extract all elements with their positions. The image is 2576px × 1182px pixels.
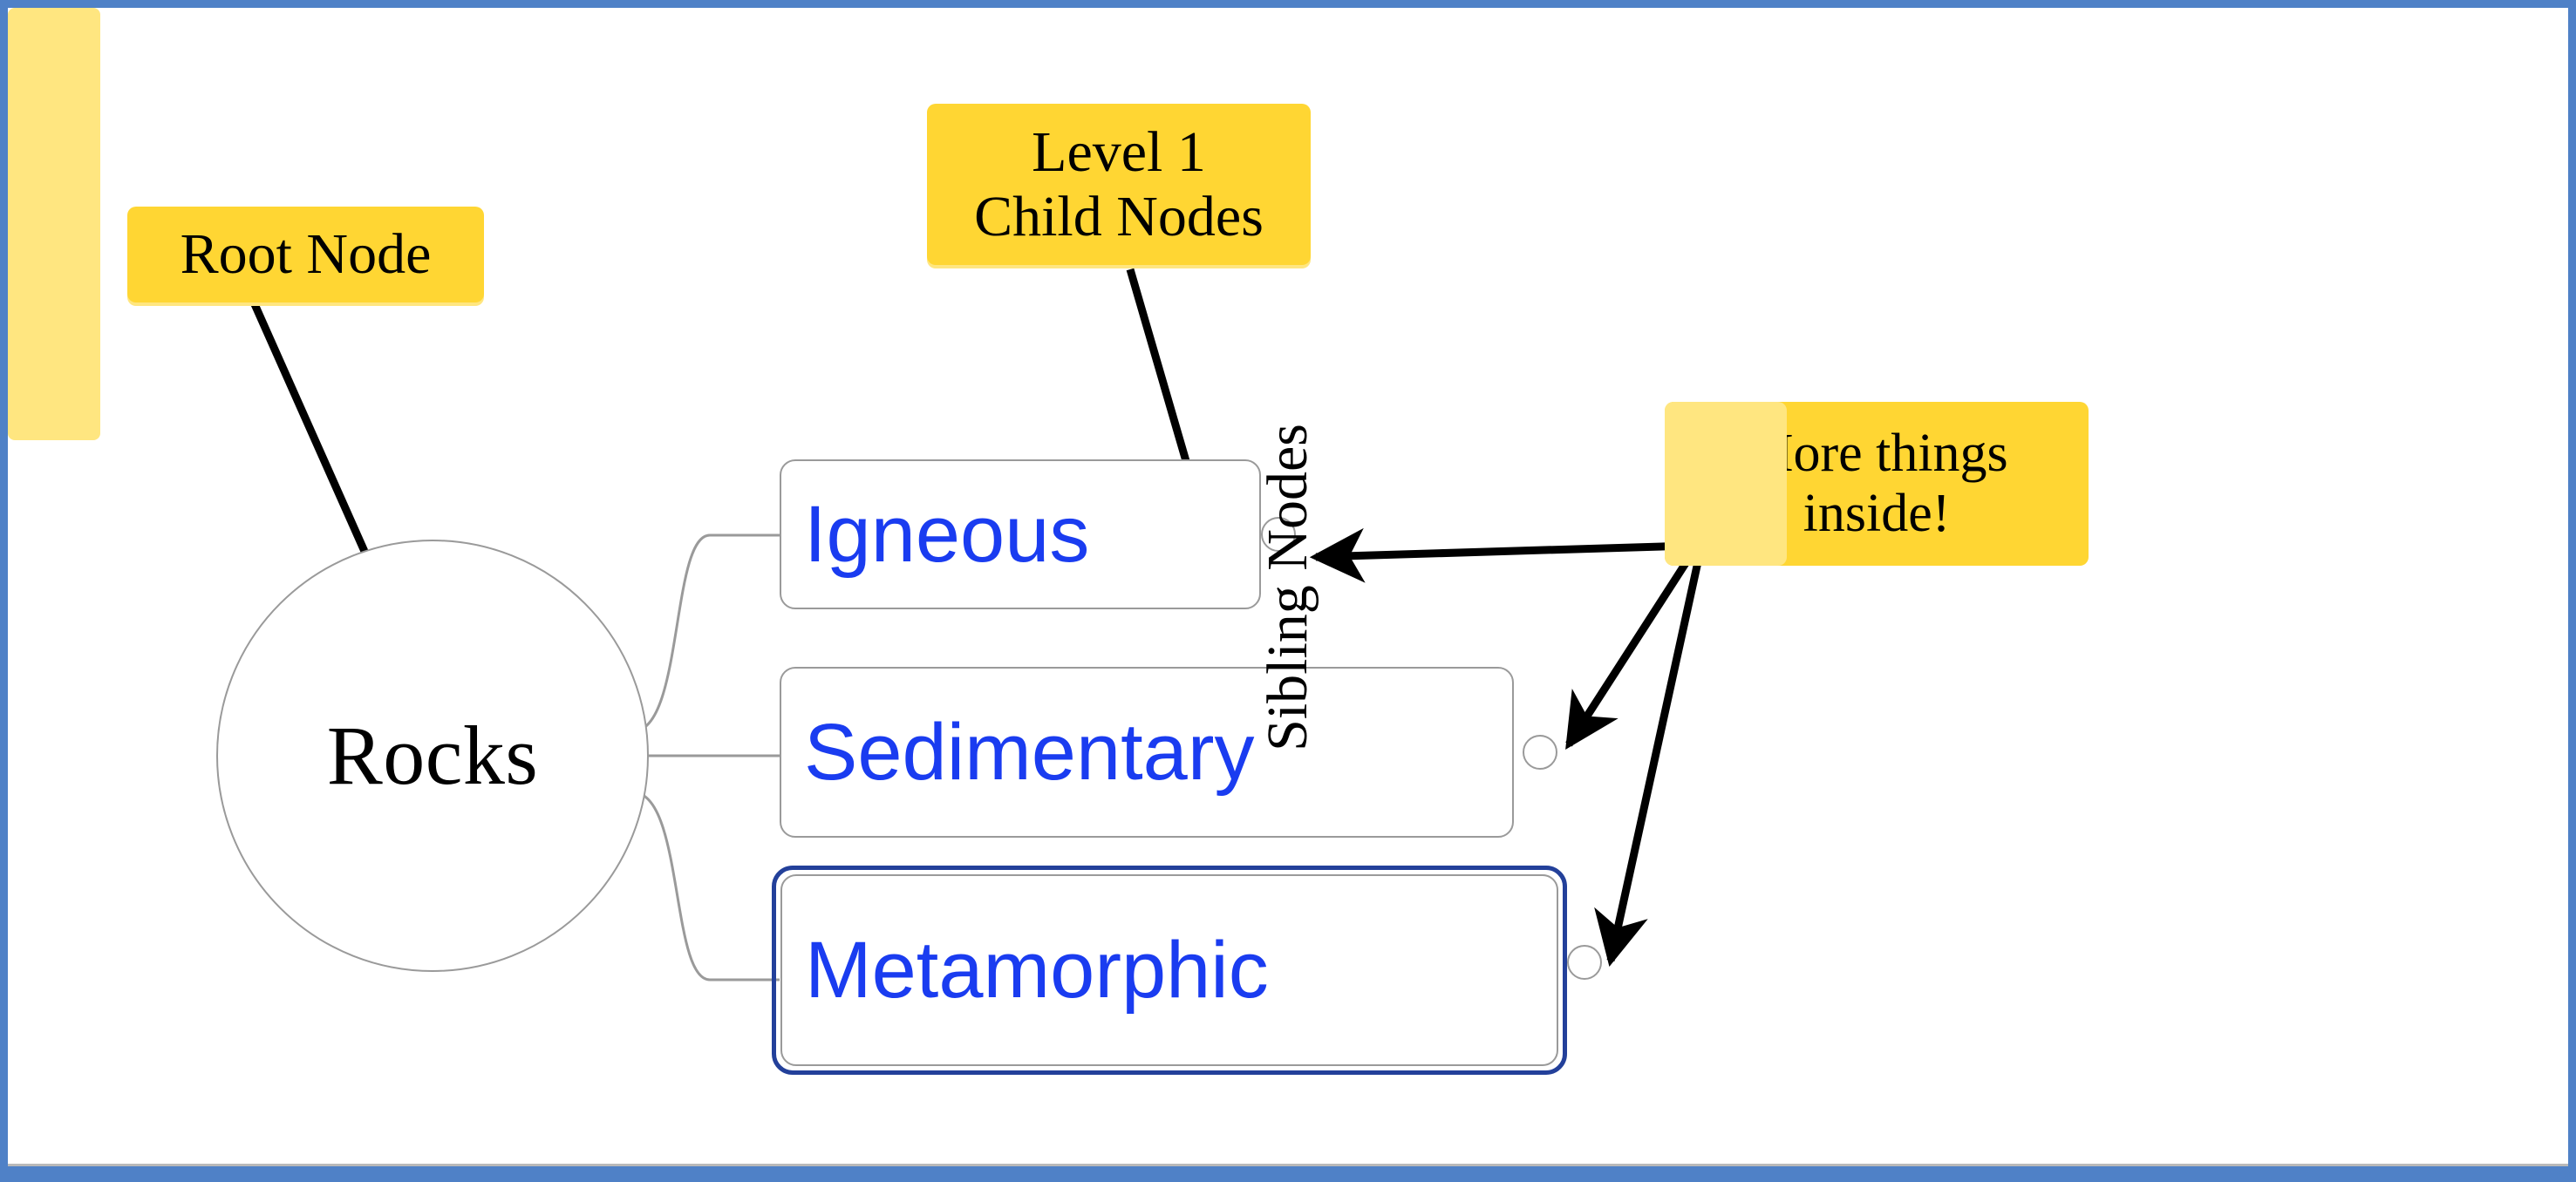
root-node-label: Rocks [327,714,539,798]
annotation-level1-line1: Level 1 [1032,120,1206,185]
annotation-sibling-nodes-label: Sibling Nodes [1255,424,1321,751]
annotation-level1-child-nodes: Level 1 Child Nodes [927,104,1311,265]
mindmap-node-igneous-label: Igneous [781,494,1089,574]
slide-page: Rocks Igneous Sedimentary Metamorphic Si… [0,0,2576,1182]
page-border-left [0,0,8,1182]
mindmap-node-metamorphic-label: Metamorphic [782,930,1269,1010]
more-inside-arrow-sedimentary [1569,548,1695,744]
more-inside-arrow-metamorphic [1611,550,1700,961]
mindmap-canvas[interactable]: Rocks Igneous Sedimentary Metamorphic Si… [8,8,2568,1166]
mindmap-connectors [633,535,780,980]
page-border-right [2568,0,2576,1182]
mindmap-node-sedimentary-label: Sedimentary [781,712,1254,792]
expand-handle-sedimentary-icon[interactable] [1523,735,1557,770]
more-inside-arrow-igneous [1316,546,1689,557]
connector-root-metamorphic [633,792,780,980]
mindmap-root-node[interactable]: Rocks [216,540,649,972]
page-border-top [0,0,2576,8]
mindmap-node-igneous[interactable]: Igneous [780,459,1261,609]
mindmap-node-metamorphic[interactable]: Metamorphic [780,874,1558,1066]
expand-handle-metamorphic-icon[interactable] [1567,945,1602,980]
page-border-bottom [0,1166,2576,1182]
annotation-more-things-line2: inside! [1803,484,1951,544]
annotation-root-node-label: Root Node [181,222,432,287]
connector-root-igneous [633,535,780,731]
annotation-sibling-nodes: Sibling Nodes [8,8,100,440]
annotation-level1-line2: Child Nodes [974,185,1264,249]
mindmap-node-sedimentary[interactable]: Sedimentary [780,667,1514,838]
annotation-root-node: Root Node [127,207,484,302]
annotation-more-things-pale-overlay [1665,402,1787,566]
